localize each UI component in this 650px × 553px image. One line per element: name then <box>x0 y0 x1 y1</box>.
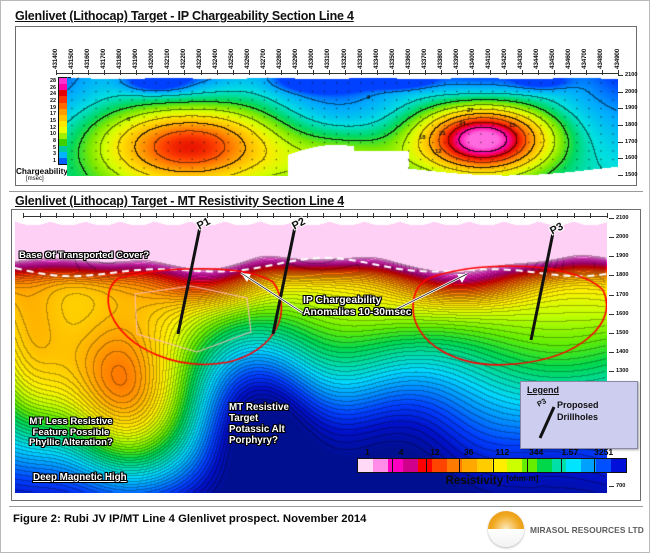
depth-tick-label: 1600 <box>625 155 637 161</box>
ip-x-tick-row <box>56 73 618 74</box>
resistivity-colorbar-label: Resistivity [ohm-m] <box>357 474 627 487</box>
resistivity-tick-label: 344 <box>529 447 543 457</box>
depth-tick-label: 2100 <box>616 215 628 221</box>
x-tick-label: 431700 <box>100 49 107 69</box>
annotation-base-of-cover: Base Of Transported Cover? <box>19 251 149 262</box>
x-tick-label: 432700 <box>260 49 267 69</box>
legend-box: Legend P3 Proposed Drillholes <box>520 381 638 449</box>
chargeability-tick-label: 3 <box>53 151 56 157</box>
depth-tick-label: 1800 <box>616 272 628 278</box>
x-tick-label: 434900 <box>614 49 621 69</box>
x-tick-label: 434000 <box>469 49 476 69</box>
x-tick-label: 433800 <box>437 49 444 69</box>
chargeability-tick-label: 5 <box>53 145 56 151</box>
mirasol-logo-text: MIRASOL RESOURCES LTD <box>530 525 644 535</box>
resistivity-colorbar-unit: [ohm-m] <box>506 474 538 483</box>
legend-description: Proposed Drillholes <box>557 399 599 423</box>
chargeability-tick-label: 8 <box>53 138 56 144</box>
chargeability-colorbar-label: Chargeability <box>16 167 68 176</box>
x-tick-label: 432200 <box>180 49 187 69</box>
resistivity-tick-label: 112 <box>495 447 509 457</box>
x-tick-label: 433500 <box>389 49 396 69</box>
x-tick-label: 433000 <box>308 49 315 69</box>
chargeability-tick-label: 28 <box>50 78 56 84</box>
x-tick-label: 432000 <box>148 49 155 69</box>
mt-panel-title: Glenlivet (Lithocap) Target - MT Resisti… <box>15 194 344 208</box>
x-tick-label: 433600 <box>405 49 412 69</box>
depth-tick-label: 2100 <box>625 72 637 78</box>
x-tick-label: 434100 <box>485 49 492 69</box>
x-tick-label: 434700 <box>581 49 588 69</box>
resistivity-tick-label: 3251 <box>594 447 613 457</box>
x-tick-label: 431900 <box>132 49 139 69</box>
resistivity-colorbar-ticks: 1412361123441.573251 <box>357 447 627 458</box>
x-tick-label: 432400 <box>212 49 219 69</box>
mirasol-logo-icon <box>488 511 524 547</box>
x-tick-label: 433900 <box>453 49 460 69</box>
x-tick-label: 434300 <box>517 49 524 69</box>
chargeability-tick-label: 12 <box>50 125 56 131</box>
resistivity-tick-label: 12 <box>430 447 440 457</box>
x-tick-label: 433700 <box>421 49 428 69</box>
chargeability-colorbar-ticks: 2826242219171512108531 <box>34 77 56 165</box>
chargeability-tick-label: 15 <box>50 118 56 124</box>
x-tick-label: 431600 <box>84 49 91 69</box>
ip-panel-title: Glenlivet (Lithocap) Target - IP Chargea… <box>15 9 354 23</box>
footer-divider <box>9 506 643 507</box>
x-tick-label: 434500 <box>549 49 556 69</box>
x-tick-label: 432900 <box>292 49 299 69</box>
x-tick-label: 431400 <box>52 49 59 69</box>
depth-tick-label: 2000 <box>616 234 628 240</box>
x-tick-label: 432300 <box>196 49 203 69</box>
ip-chargeability-section <box>67 77 618 176</box>
x-tick-label: 434200 <box>501 49 508 69</box>
chargeability-tick-label: 19 <box>50 105 56 111</box>
depth-tick-label: 1700 <box>625 139 637 145</box>
resistivity-colorbar-strip <box>357 458 627 473</box>
ip-depth-axis: 2100200019001800170016001500 <box>618 73 648 179</box>
chargeability-colorbar-unit: [msec] <box>26 176 44 182</box>
resistivity-tick-label: 36 <box>464 447 474 457</box>
depth-tick-label: 2000 <box>625 89 637 95</box>
x-tick-label: 432800 <box>276 49 283 69</box>
resistivity-tick-label: 1 <box>365 447 370 457</box>
figure-root: Glenlivet (Lithocap) Target - IP Chargea… <box>0 0 650 553</box>
ip-x-axis-labels: 4314004315004316004317004318004319004320… <box>19 29 633 69</box>
depth-tick-label: 1500 <box>625 172 637 178</box>
mt-x-tick-row <box>23 216 607 217</box>
annotation-ip-anomalies: IP Chargeability Anomalies 10-30msec <box>303 295 412 318</box>
depth-tick-label: 1600 <box>616 311 628 317</box>
depth-tick-label: 1900 <box>625 105 637 111</box>
x-tick-label: 434800 <box>597 49 604 69</box>
x-tick-label: 434400 <box>533 49 540 69</box>
chargeability-tick-label: 17 <box>50 111 56 117</box>
x-tick-label: 433300 <box>357 49 364 69</box>
depth-tick-label: 1400 <box>616 349 628 355</box>
legend-title: Legend <box>527 385 559 395</box>
annotation-resistive-target: MT Resistive Target Potassic Alt Porphyr… <box>229 403 289 447</box>
x-tick-label: 432600 <box>244 49 251 69</box>
annotation-deep-magnetic-high: Deep Magnetic High <box>33 473 127 484</box>
panel-divider <box>9 191 643 192</box>
x-tick-label: 431800 <box>116 49 123 69</box>
chargeability-tick-label: 10 <box>50 131 56 137</box>
depth-tick-label: 1700 <box>616 292 628 298</box>
chargeability-tick-label: 1 <box>53 158 56 164</box>
resistivity-tick-label: 1.57 <box>561 447 578 457</box>
x-tick-label: 431500 <box>68 49 75 69</box>
depth-tick-label: 1500 <box>616 330 628 336</box>
chargeability-tick-label: 24 <box>50 91 56 97</box>
chargeability-tick-label: 22 <box>50 98 56 104</box>
x-tick-label: 432500 <box>228 49 235 69</box>
depth-tick-label: 1900 <box>616 253 628 259</box>
depth-tick-label: 1300 <box>616 368 628 374</box>
x-tick-label: 432100 <box>164 49 171 69</box>
resistivity-colorbar: 1412361123441.573251 Resistivity [ohm-m] <box>357 447 627 487</box>
chargeability-tick-label: 26 <box>50 85 56 91</box>
resistivity-tick-label: 4 <box>399 447 404 457</box>
chargeability-colorbar: 2826242219171512108531 Chargeability [ms… <box>19 77 71 183</box>
depth-tick-label: 1800 <box>625 122 637 128</box>
x-tick-label: 433200 <box>341 49 348 69</box>
x-tick-label: 433400 <box>373 49 380 69</box>
x-tick-label: 434600 <box>565 49 572 69</box>
resistivity-colorbar-label-text: Resistivity <box>446 475 504 487</box>
annotation-less-resistive: MT Less Resistive Feature Possible Phyll… <box>29 417 113 449</box>
figure-caption: Figure 2: Rubi JV IP/MT Line 4 Glenlivet… <box>13 513 366 525</box>
x-tick-label: 433100 <box>324 49 331 69</box>
